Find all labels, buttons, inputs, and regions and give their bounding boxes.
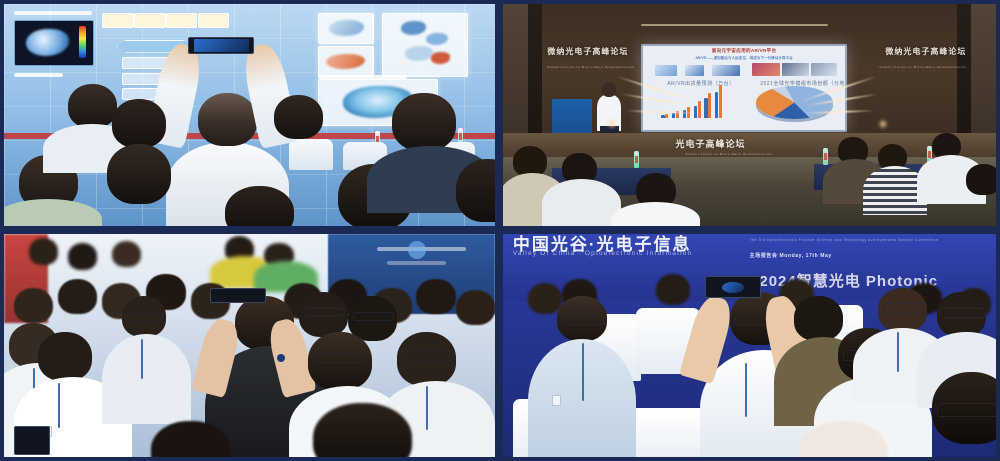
panel-top-left-exhibition: [0, 0, 499, 230]
glasses-icon: [939, 308, 985, 319]
lanyard: [58, 383, 60, 428]
pipeline-icon: [685, 65, 703, 77]
ceiling-light-strip: [641, 24, 828, 26]
projection-screen: 面向元宇宙应用的AR/VR平台 AR/VR——虚拟融合与人民定位，将成为下一代移…: [641, 44, 847, 132]
glasses-icon: [562, 314, 603, 325]
crowd-head: [14, 288, 53, 324]
backdrop-conference-line: The 3rd Optoelectronic Frontier Science …: [750, 238, 939, 242]
crowd-head: [68, 84, 117, 128]
bar-ar: [704, 98, 707, 118]
spark-glow: [607, 119, 617, 129]
backdrop-session-line: 主场报告会 Monday, 17th May: [750, 252, 832, 259]
preview-thumb-wide: [382, 13, 467, 77]
wristwatch-icon: [277, 354, 285, 362]
panel-label-bar: [318, 75, 406, 79]
thumb-shape: [326, 54, 365, 70]
heatmap-blob: [26, 29, 69, 57]
panel-top-right-forum-stage: 微纳光电子高峰论坛 Summit Forum on Micro-Nano Opt…: [499, 0, 1000, 230]
panel-bottom-right-audience: 中国光谷·光电子信息 Valley Of China · Optoelectro…: [499, 230, 1000, 461]
glasses-icon: [127, 312, 163, 321]
crowd-head-back: [68, 243, 97, 270]
crowd-body-front: [102, 334, 190, 423]
crowd-head: [274, 95, 323, 139]
thumb-shape: [431, 52, 449, 63]
attendee-head: [794, 296, 843, 341]
module-card: [134, 13, 165, 28]
lanyard: [426, 386, 428, 431]
thumb-shape: [401, 21, 426, 35]
glasses-icon: [883, 303, 924, 314]
crowd-head: [107, 144, 171, 204]
smartphone: [210, 288, 266, 303]
water-bottle: [634, 151, 639, 168]
bar-vr: [665, 114, 668, 118]
pipeline-icon: [712, 65, 740, 77]
bar-vr: [698, 101, 701, 119]
bar-ar: [672, 113, 675, 118]
module-card: [198, 13, 229, 28]
crowd-head: [225, 186, 294, 230]
screen-header-bar: [14, 73, 63, 77]
camera-lens-icon: [722, 282, 744, 293]
thumb-shape: [426, 33, 448, 45]
chair-back: [289, 139, 333, 170]
water-bottle: [823, 148, 828, 165]
slide-title: 面向元宇宙应用的AR/VR平台: [643, 48, 845, 54]
news-image: [782, 63, 808, 76]
pipeline-icon: [655, 65, 677, 77]
name-badge: [552, 395, 561, 406]
glasses-icon: [937, 403, 1000, 416]
module-card: [102, 13, 133, 28]
screen-header-bar: [14, 11, 93, 15]
stage-front-subtext: Summit Forum on Micro-Nano Optoelectroni…: [685, 152, 772, 156]
glasses-icon: [304, 308, 345, 317]
backdrop-title-en: Valley Of China · Optoelectronic Informa…: [513, 250, 693, 257]
bar-ar: [661, 115, 664, 118]
crowd-head: [58, 279, 97, 315]
camera-device: [705, 276, 761, 298]
smartphone-screen: [194, 39, 249, 51]
crowd-head: [456, 159, 499, 221]
smartphone-secondary: [14, 426, 50, 455]
module-card: [166, 13, 197, 28]
crowd-head-foreground: [313, 403, 411, 461]
preview-thumb: [318, 13, 374, 44]
bar-vr: [708, 93, 711, 119]
stage-front-text: 光电子高峰论坛: [676, 137, 746, 150]
bar-vr: [719, 85, 722, 118]
banner-right-title: 微纳光电子高峰论坛: [885, 46, 966, 57]
news-image: [811, 63, 837, 76]
bar-ar: [715, 92, 718, 118]
glasses-icon: [402, 350, 453, 361]
crowd-head-back: [112, 241, 141, 268]
attendee-body: [542, 179, 621, 228]
crowd-head: [112, 99, 166, 148]
slide-subtitle: AR/VR——虚拟融合与人民定位，将成为下一代移动计算平台: [643, 56, 845, 61]
attendee-head: [966, 164, 1000, 195]
booth-graphic-line: [387, 261, 446, 265]
booth-graphic-circle: [408, 241, 426, 259]
attendee-head-back: [656, 274, 691, 305]
glasses-icon: [353, 312, 394, 321]
glasses-icon: [313, 352, 364, 363]
photo-collage: 微纳光电子高峰论坛 Summit Forum on Micro-Nano Opt…: [0, 0, 1000, 461]
lanyard: [745, 363, 747, 417]
banner-right-subtitle: Summit Forum on Micro-Nano Optoelectroni…: [879, 65, 966, 69]
subject-head: [198, 93, 257, 146]
crowd-head-front: [38, 332, 92, 381]
banner-left-subtitle: Summit Forum on Micro-Nano Optoelectroni…: [547, 65, 634, 69]
preview-thumb: [318, 46, 374, 77]
thumb-shape: [329, 20, 364, 37]
banner-left-title: 微纳光电子高峰论坛: [547, 46, 628, 57]
news-image: [752, 63, 780, 76]
attendee-head-back: [528, 283, 563, 314]
crowd-head: [416, 279, 455, 315]
crowd-head-back: [29, 238, 58, 265]
panel-bottom-left-crowd: [0, 230, 499, 461]
smartphone: [188, 37, 254, 53]
heatmap-legend-icon: [79, 26, 86, 58]
spark-glow: [878, 119, 888, 129]
lanyard: [582, 343, 584, 401]
crowd-head: [456, 290, 495, 326]
heatmap-monitor: [14, 20, 95, 66]
crowd-head: [392, 93, 456, 151]
speaker-head: [602, 82, 617, 98]
thumb-shape: [405, 46, 433, 61]
